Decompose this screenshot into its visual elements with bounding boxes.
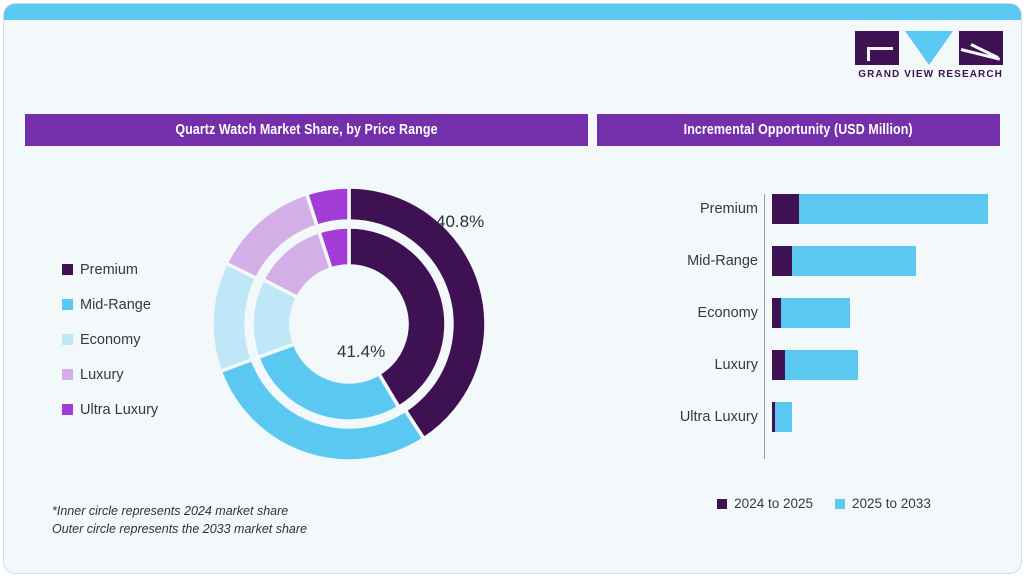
logo-wordmark: GRAND VIEW RESEARCH	[855, 69, 1003, 80]
bar-segment-2024-to-2025	[772, 194, 799, 224]
bar-track	[772, 298, 1004, 328]
chart-title-left-text: Quartz Watch Market Share, by Price Rang…	[175, 122, 437, 138]
logo-g-notch-icon	[867, 47, 893, 50]
logo-mark	[855, 31, 1003, 65]
accent-top-bar	[4, 4, 1021, 20]
bar-segment-2025-to-2033	[799, 194, 988, 224]
bar-row: Mid-Range	[644, 246, 1004, 276]
footnote-line-2: Outer circle represents the 2033 market …	[52, 520, 472, 538]
bar-row: Premium	[644, 194, 1004, 224]
bar-row: Ultra Luxury	[644, 402, 1004, 432]
bar-legend-swatch-icon	[835, 499, 845, 509]
legend-swatch-icon	[62, 299, 73, 310]
donut-inner-value-label: 41.4%	[337, 342, 385, 362]
donut-footnote: *Inner circle represents 2024 market sha…	[52, 502, 472, 538]
incremental-opportunity-bar-chart: PremiumMid-RangeEconomyLuxuryUltra Luxur…	[644, 194, 1004, 459]
bar-category-label: Ultra Luxury	[644, 409, 772, 425]
footnote-line-1: *Inner circle represents 2024 market sha…	[52, 502, 472, 520]
legend-swatch-icon	[62, 264, 73, 275]
grand-view-research-logo: GRAND VIEW RESEARCH	[855, 31, 1003, 83]
bar-track	[772, 194, 1004, 224]
legend-label: Premium	[80, 262, 138, 278]
legend-label: Economy	[80, 332, 140, 348]
bar-segment-2025-to-2033	[785, 350, 858, 380]
bar-segment-2024-to-2025	[772, 246, 792, 276]
bar-track	[772, 246, 1004, 276]
bar-segment-2025-to-2033	[775, 402, 792, 432]
bar-legend-label: 2025 to 2033	[852, 496, 931, 511]
chart-title-right-text: Incremental Opportunity (USD Million)	[684, 122, 913, 138]
donut-inner-ring	[252, 227, 446, 421]
legend-label: Ultra Luxury	[80, 402, 158, 418]
bar-category-label: Mid-Range	[644, 253, 772, 269]
bar-category-label: Luxury	[644, 357, 772, 373]
bar-legend-swatch-icon	[717, 499, 727, 509]
bar-row: Luxury	[644, 350, 1004, 380]
legend-swatch-icon	[62, 404, 73, 415]
bar-category-label: Economy	[644, 305, 772, 321]
bar-legend-item: 2025 to 2033	[835, 496, 931, 511]
chart-title-right: Incremental Opportunity (USD Million)	[597, 114, 1000, 146]
bar-segment-2025-to-2033	[781, 298, 850, 328]
donut-segment-economy	[212, 263, 257, 371]
report-card: GRAND VIEW RESEARCH Quartz Watch Market …	[3, 3, 1022, 574]
donut-outer-value-label: 40.8%	[436, 212, 484, 232]
legend-swatch-icon	[62, 334, 73, 345]
bar-track	[772, 402, 1004, 432]
legend-swatch-icon	[62, 369, 73, 380]
bar-segment-2024-to-2025	[772, 350, 785, 380]
bar-category-label: Premium	[644, 201, 772, 217]
bar-segment-2024-to-2025	[772, 298, 781, 328]
bar-legend-label: 2024 to 2025	[734, 496, 813, 511]
legend-label: Luxury	[80, 367, 124, 383]
bar-segment-2025-to-2033	[792, 246, 916, 276]
bar-legend-item: 2024 to 2025	[717, 496, 813, 511]
legend-label: Mid-Range	[80, 297, 151, 313]
logo-v-triangle-icon	[905, 31, 953, 65]
bar-track	[772, 350, 1004, 380]
bar-chart-legend: 2024 to 2025 2025 to 2033	[644, 496, 1004, 511]
bar-row: Economy	[644, 298, 1004, 328]
logo-g-notch-vertical-icon	[867, 47, 870, 61]
chart-title-left: Quartz Watch Market Share, by Price Rang…	[25, 114, 588, 146]
